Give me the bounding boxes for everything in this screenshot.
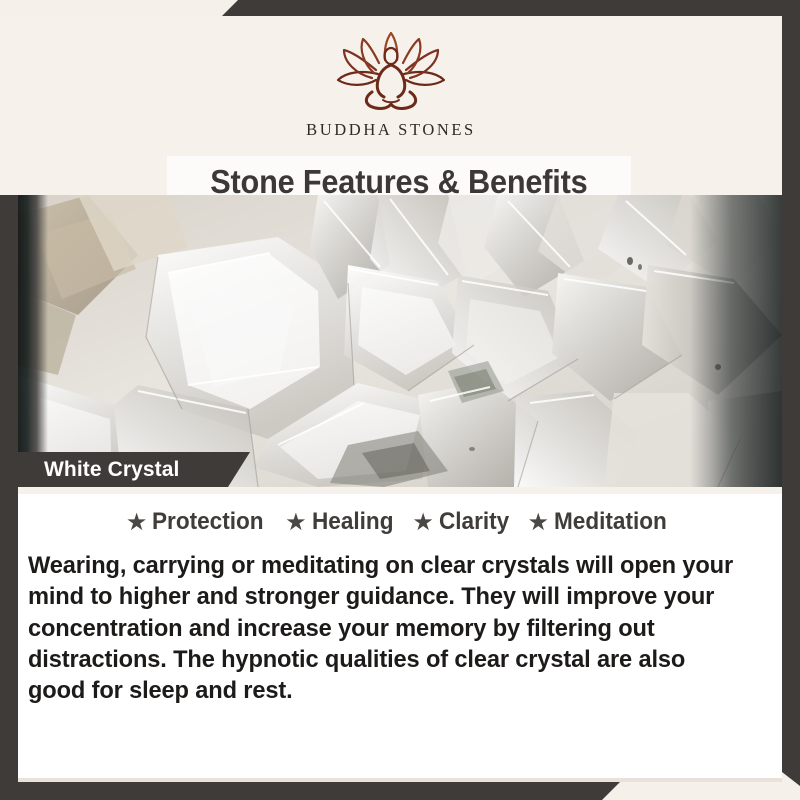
benefits-row: ★ Protection ★ Healing ★ Clarity ★ Medit… — [18, 508, 782, 536]
brand-logo: BUDDHA STONES — [0, 30, 782, 140]
lotus-meditation-figure-icon — [316, 30, 466, 116]
content-top-divider — [18, 487, 782, 494]
brand-name: BUDDHA STONES — [306, 120, 476, 140]
stone-photo — [18, 195, 782, 487]
benefit-label: Meditation — [554, 508, 667, 536]
stone-name-banner: White Crystal — [18, 452, 250, 487]
benefit-item-clarity: ★ Clarity — [412, 508, 513, 536]
stone-name-label: White Crystal — [18, 458, 180, 482]
frame-bottom-shadow — [18, 778, 782, 782]
header: BUDDHA STONES Stone Features & Benefits — [0, 16, 782, 195]
benefit-item-protection: ★ Protection — [126, 508, 271, 536]
crystal-cluster-illustration — [18, 195, 782, 487]
frame-bottom-band — [0, 782, 620, 800]
star-icon: ★ — [126, 511, 148, 535]
infographic-page: BUDDHA STONES Stone Features & Benefits — [0, 0, 800, 800]
frame-right-band — [782, 0, 800, 786]
frame-left-band — [0, 186, 18, 800]
benefit-label: Clarity — [439, 508, 509, 536]
star-icon: ★ — [285, 511, 307, 535]
frame-top-band — [222, 0, 800, 16]
content-panel: ★ Protection ★ Healing ★ Clarity ★ Medit… — [18, 487, 782, 778]
benefit-item-meditation: ★ Meditation — [528, 508, 675, 536]
star-icon: ★ — [528, 511, 550, 535]
benefit-label: Healing — [312, 508, 393, 536]
benefit-label: Protection — [152, 508, 264, 536]
stone-description: Wearing, carrying or meditating on clear… — [28, 550, 742, 707]
star-icon: ★ — [412, 511, 434, 535]
benefit-item-healing: ★ Healing — [285, 508, 398, 536]
